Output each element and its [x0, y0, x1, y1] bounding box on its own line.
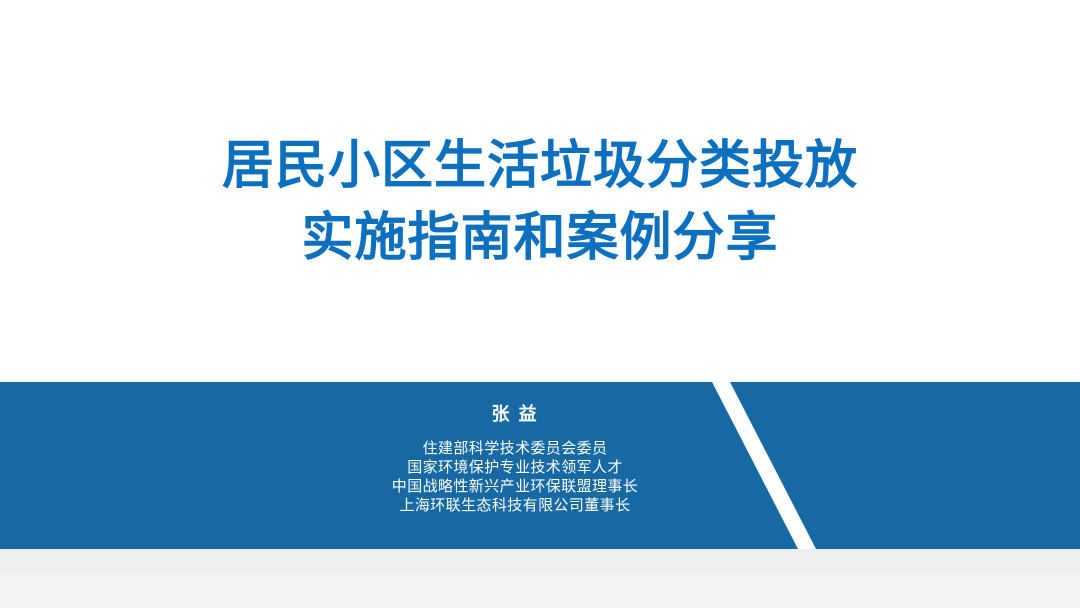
- footer-strip-upper: [0, 549, 1080, 571]
- credential-line: 国家环境保护专业技术领军人才: [0, 458, 1030, 477]
- title-line-2: 实施指南和案例分享: [0, 202, 1080, 274]
- credential-line: 上海环联生态科技有限公司董事长: [0, 496, 1030, 515]
- presentation-slide: 居民小区生活垃圾分类投放 实施指南和案例分享 张 益 住建部科学技术委员会委员 …: [0, 0, 1080, 608]
- speaker-credentials: 住建部科学技术委员会委员 国家环境保护专业技术领军人才 中国战略性新兴产业环保联…: [0, 439, 1030, 515]
- slide-title: 居民小区生活垃圾分类投放 实施指南和案例分享: [0, 130, 1080, 274]
- speaker-name: 张 益: [0, 402, 1030, 426]
- banner-text-block: 张 益 住建部科学技术委员会委员 国家环境保护专业技术领军人才 中国战略性新兴产…: [0, 382, 1030, 549]
- title-line-1: 居民小区生活垃圾分类投放: [0, 130, 1080, 202]
- credential-line: 住建部科学技术委员会委员: [0, 439, 1030, 458]
- credential-line: 中国战略性新兴产业环保联盟理事长: [0, 477, 1030, 496]
